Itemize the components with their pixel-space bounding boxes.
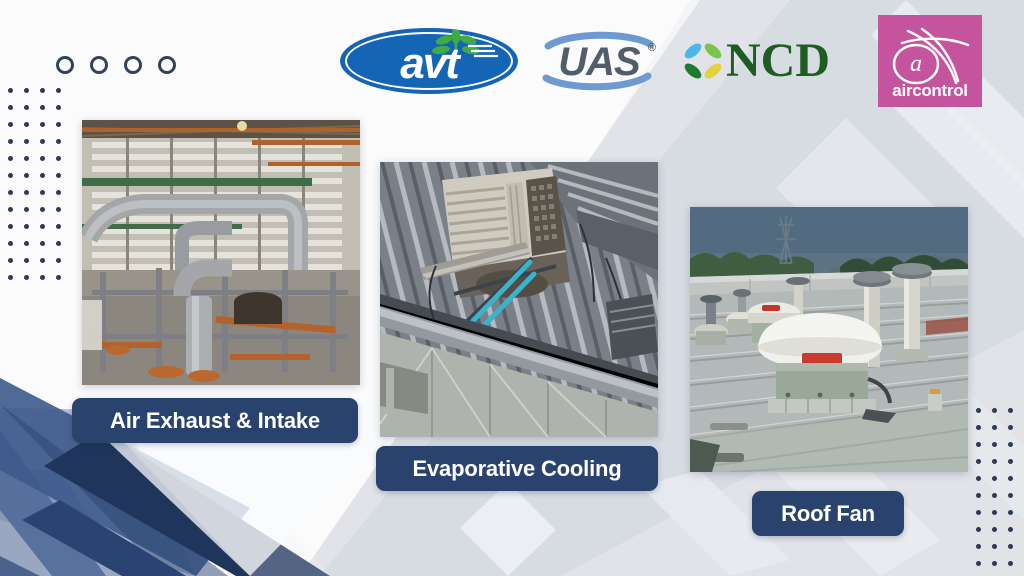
dot [56, 207, 61, 212]
dot [8, 207, 13, 212]
dot [8, 173, 13, 178]
dot [24, 139, 29, 144]
uas-wordmark: UAS [540, 42, 658, 82]
dot [992, 408, 997, 413]
dot-grid-left [8, 88, 72, 292]
dot [40, 122, 45, 127]
chip-text: Evaporative Cooling [413, 456, 622, 482]
dot [56, 190, 61, 195]
aircontrol-wordmark: aircontrol [878, 81, 982, 101]
dot [40, 139, 45, 144]
dot [40, 88, 45, 93]
dot [8, 190, 13, 195]
avt-speed-lines-icon [340, 28, 518, 94]
label-air-exhaust-intake[interactable]: Air Exhaust & Intake [72, 398, 358, 443]
dot [24, 88, 29, 93]
dot [976, 561, 981, 566]
dot [24, 275, 29, 280]
dot-row [976, 544, 1024, 561]
dot [56, 122, 61, 127]
dot [56, 258, 61, 263]
dot [40, 156, 45, 161]
photo-evaporative-cooling [380, 162, 658, 437]
dot [8, 275, 13, 280]
dot [24, 207, 29, 212]
dot-row [8, 275, 72, 292]
ring-icon [90, 56, 108, 74]
ring-icon [124, 56, 142, 74]
dot [1008, 527, 1013, 532]
banner-canvas: avt UAS ® [0, 0, 1024, 576]
ncd-logo[interactable]: NCD [680, 32, 856, 90]
dot [992, 442, 997, 447]
dot [1008, 425, 1013, 430]
dot-row [8, 88, 72, 105]
ring-icon [158, 56, 176, 74]
dot [8, 258, 13, 263]
aircontrol-logo[interactable]: a aircontrol [878, 15, 982, 107]
dot [976, 493, 981, 498]
dot [56, 275, 61, 280]
dot [1008, 476, 1013, 481]
dot [976, 459, 981, 464]
label-evaporative-cooling[interactable]: Evaporative Cooling [376, 446, 658, 491]
dot [24, 190, 29, 195]
dot [976, 408, 981, 413]
dot-row [976, 425, 1024, 442]
dot-row [8, 190, 72, 207]
partner-logo-strip: avt UAS ® [340, 24, 982, 98]
dot [56, 139, 61, 144]
evaporative-cooler-illustration [380, 162, 658, 437]
dot [992, 425, 997, 430]
dot [40, 173, 45, 178]
dot-row [976, 493, 1024, 510]
roof-fans-illustration [690, 207, 968, 472]
dot [24, 122, 29, 127]
registered-mark: ® [648, 42, 656, 54]
dot [976, 476, 981, 481]
dot [976, 442, 981, 447]
dot-row [8, 258, 72, 275]
dot [24, 258, 29, 263]
dot-row [976, 408, 1024, 425]
dot [24, 224, 29, 229]
dot [976, 544, 981, 549]
dot [56, 105, 61, 110]
dot [40, 207, 45, 212]
dot-row [976, 510, 1024, 527]
dot [40, 224, 45, 229]
dot [8, 241, 13, 246]
dot-row [976, 561, 1024, 576]
dot [976, 425, 981, 430]
dot [40, 190, 45, 195]
dot [1008, 561, 1013, 566]
dot-row [8, 105, 72, 122]
dot-row [8, 173, 72, 190]
dot [8, 122, 13, 127]
chip-text: Roof Fan [781, 501, 875, 527]
dot [992, 527, 997, 532]
dot [24, 241, 29, 246]
dot-row [8, 224, 72, 241]
dot [56, 156, 61, 161]
dot [8, 88, 13, 93]
dot [992, 510, 997, 515]
dot [1008, 408, 1013, 413]
photo-roof-fan [690, 207, 968, 472]
dot [24, 105, 29, 110]
dot [992, 544, 997, 549]
dot [1008, 493, 1013, 498]
dot [56, 88, 61, 93]
dot [992, 459, 997, 464]
dot-row [8, 156, 72, 173]
dot-row [976, 459, 1024, 476]
dot-grid-right [976, 408, 1024, 576]
dot-row [8, 207, 72, 224]
dot [40, 258, 45, 263]
dot [24, 173, 29, 178]
ncd-wordmark: NCD [726, 37, 830, 85]
dot [976, 527, 981, 532]
dot [1008, 510, 1013, 515]
dot [992, 476, 997, 481]
industrial-interior-illustration [82, 120, 360, 385]
dot-row [8, 241, 72, 258]
dot [24, 156, 29, 161]
dot-row [976, 476, 1024, 493]
dot [56, 224, 61, 229]
uas-logo[interactable]: UAS ® [540, 30, 658, 92]
dot [1008, 442, 1013, 447]
ring-row-decoration [56, 56, 176, 74]
dot-row [8, 139, 72, 156]
dot [8, 156, 13, 161]
dot [976, 510, 981, 515]
pinwheel-leaves-icon [680, 38, 726, 84]
dot [8, 224, 13, 229]
photo-air-exhaust-intake [82, 120, 360, 385]
chip-text: Air Exhaust & Intake [110, 408, 320, 434]
dot [992, 493, 997, 498]
dot [1008, 544, 1013, 549]
dot [8, 105, 13, 110]
dot-row [976, 442, 1024, 459]
label-roof-fan[interactable]: Roof Fan [752, 491, 904, 536]
ring-icon [56, 56, 74, 74]
dot [56, 241, 61, 246]
dot [40, 275, 45, 280]
dot [40, 105, 45, 110]
dot [1008, 459, 1013, 464]
dot [40, 241, 45, 246]
avt-logo[interactable]: avt [340, 28, 518, 94]
dot-row [976, 527, 1024, 544]
dot-row [8, 122, 72, 139]
dot [992, 561, 997, 566]
dot [8, 139, 13, 144]
aircontrol-a-letter: a [910, 51, 922, 77]
dot [56, 173, 61, 178]
